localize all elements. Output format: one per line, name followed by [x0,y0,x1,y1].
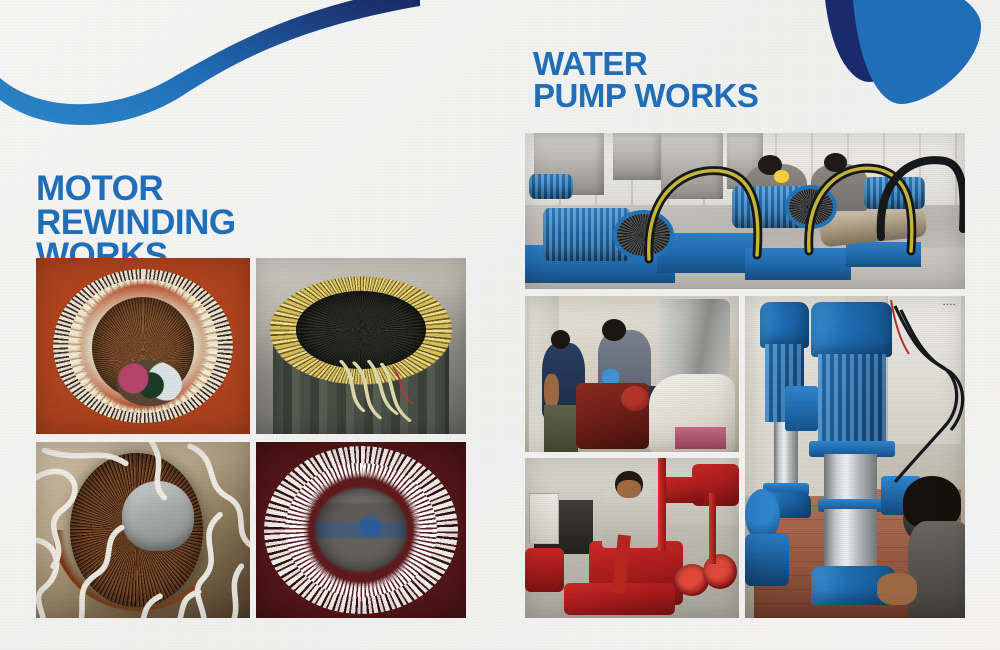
pump-title-line-1: WATER [533,48,863,80]
wave-ribbon-decoration [0,0,420,130]
stator-bore-dark [296,291,426,368]
photo-blue-pump-motors-plant-room [525,133,965,289]
motor-title-line-2: REWINDING [36,206,306,240]
electrical-cables [745,296,965,618]
photo-vertical-multistage-pumps: ▪▪▪▪ [745,296,965,618]
photo-stator-white-slot-wedges-red [256,442,466,618]
bore-reflection [315,488,407,572]
technician-grey-head [602,319,626,341]
technician-navy-head [551,330,570,349]
photo-stator-core-white-sleeving [36,442,250,618]
hydraulic-hoses [525,133,965,289]
lead-wires [332,360,424,430]
control-panel [529,493,559,544]
camera-timestamp: ▪▪▪▪ [943,302,957,308]
photo-technician-red-fire-pump [525,458,739,618]
stator-bore-contents [117,360,181,406]
pump-title-line-2: PUMP WORKS [533,80,863,112]
white-sleeving-cables [36,442,250,618]
pump-section-title: WATER PUMP WORKS [533,48,863,111]
brochure-page: MOTOR REWINDING WORKS [0,0,1000,650]
stainless-tank [658,299,731,380]
photo-stator-copper-winding-orange-drum [36,258,250,434]
photo-stator-gold-winding-grey-housing [256,258,466,434]
toolbox [675,427,726,449]
motor-title-line-1: MOTOR [36,172,306,206]
photo-technicians-servicing-red-pump [525,296,739,452]
